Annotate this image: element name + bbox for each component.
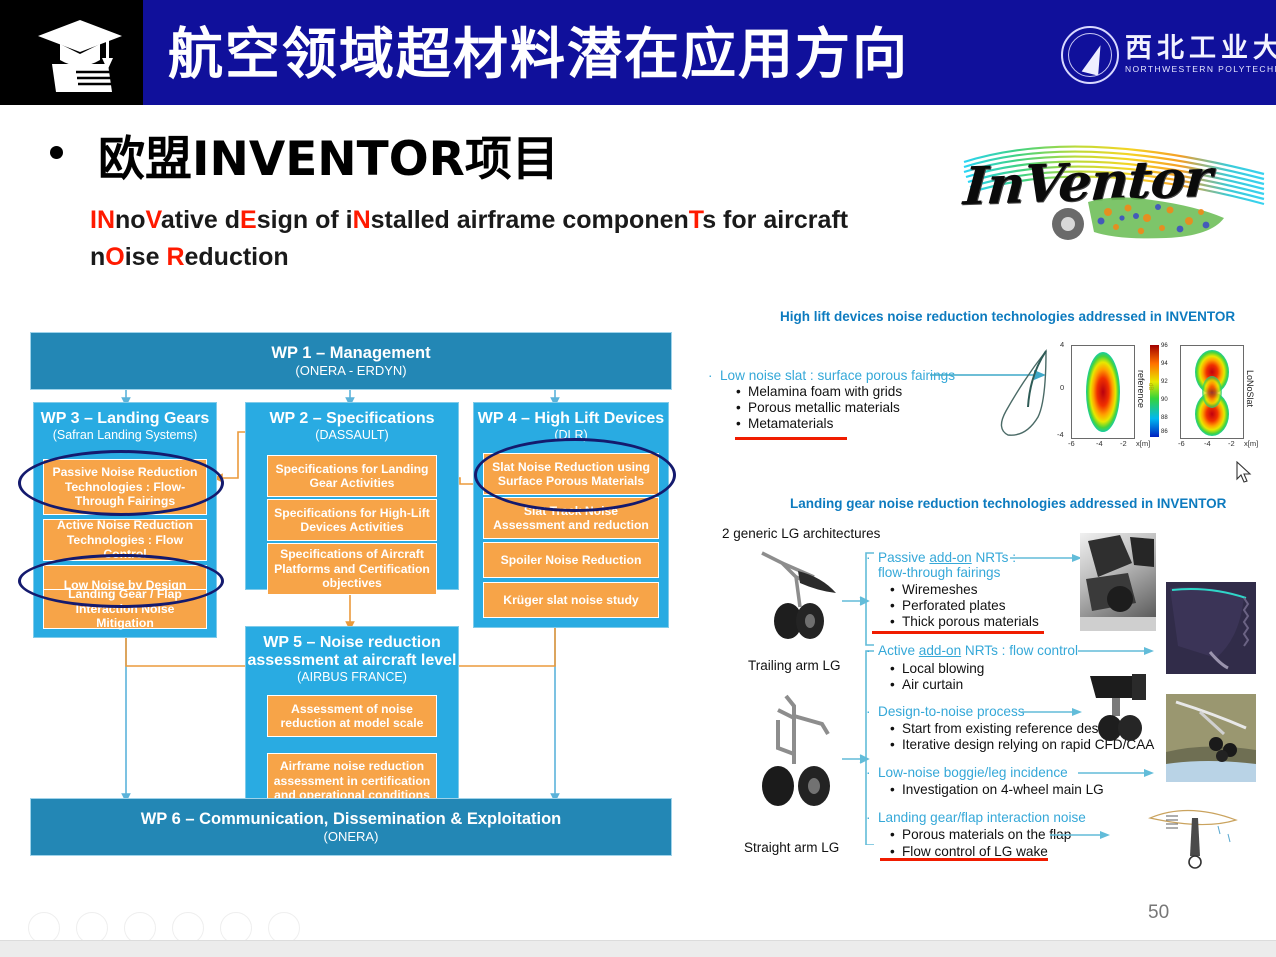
straight-arm-lg-caption: Straight arm LG — [744, 840, 839, 855]
lg-section-title: Landing gear noise reduction technologie… — [790, 496, 1226, 511]
wp4-header: WP 4 – High Lift Devices (DLR) — [474, 403, 668, 443]
acronym-letter-O: O — [105, 243, 124, 271]
lg-g1-sub-label-1: Wiremeshes — [902, 582, 978, 597]
wp2-title: WP 2 – Specifications — [246, 410, 458, 428]
wp5-column[interactable]: WP 5 – Noise reduction assessment at air… — [245, 626, 459, 826]
plot1-xtick-m2: -2 — [1120, 439, 1127, 448]
plot1-ytick-0: 0 — [1060, 383, 1064, 392]
nwpu-name-en: NORTHWESTERN POLYTECHNICAL UNIVERSITY — [1125, 64, 1276, 74]
nwpu-seal-icon — [1061, 26, 1119, 84]
bullet-glyph-icon: • — [736, 400, 748, 415]
lg-g3-head-a: Design-to-noise process — [878, 704, 1025, 719]
wp2-box-2[interactable]: Specifications for High-Lift Devices Act… — [267, 499, 437, 541]
wp2-column[interactable]: WP 2 – Specifications (DASSAULT) Specifi… — [245, 402, 459, 590]
hld-sub-3: •Metamaterials — [736, 415, 833, 433]
bullet-glyph-icon: • — [736, 384, 748, 399]
bullet-glyph-icon: • — [890, 614, 902, 629]
lg-group-2-heading: ·Active add-on NRTs : flow control — [866, 642, 1078, 660]
subtitle-frag-4: stalled airframe componen — [371, 206, 689, 234]
cb-tick-94: 94 — [1161, 361, 1168, 367]
lg-g2-sub-2: •Air curtain — [890, 676, 963, 694]
bullet-glyph-icon: • — [890, 677, 902, 692]
nwpu-name-cn: 西北工业大学 — [1125, 26, 1276, 65]
plot-colorbar — [1150, 345, 1159, 437]
photo-air-curtain-detail — [1166, 582, 1256, 674]
lg-g1-sub-3: •Thick porous materials — [890, 613, 1039, 631]
plot2-xtick-m6: -6 — [1178, 439, 1185, 448]
wp2-box-3[interactable]: Specifications of Aircraft Platforms and… — [267, 543, 437, 595]
plot-lonoslat — [1180, 345, 1244, 439]
lg-g2-head-b: NRTs : flow control — [961, 643, 1078, 658]
underline-flow-control-lg-wake — [880, 858, 1048, 861]
plot-lonoslat-label: LoNoSlat — [1245, 370, 1255, 407]
plot-reference — [1071, 345, 1135, 439]
bullet-glyph-icon: · — [866, 810, 878, 825]
wp5-title: WP 5 – Noise reduction assessment at air… — [246, 634, 458, 670]
cb-tick-96: 96 — [1161, 343, 1168, 349]
hld-sub-label-1: Melamina foam with grids — [748, 384, 902, 399]
hld-sub-label-3: Metamaterials — [748, 416, 833, 431]
lg-group-4-heading: ·Low-noise boggie/leg incidence — [866, 764, 1068, 782]
lg-g5-sub-label-2: Flow control of LG wake — [902, 844, 1048, 859]
plot-reference-contour — [1072, 346, 1134, 438]
photo-fairing-detail — [1080, 533, 1156, 631]
photo-low-noise-boggie — [1086, 672, 1152, 744]
cb-tick-88: 88 — [1161, 415, 1168, 421]
plot1-ytick-4: 4 — [1060, 340, 1064, 349]
wp5-header: WP 5 – Noise reduction assessment at air… — [246, 627, 458, 685]
trailing-arm-lg-caption: Trailing arm LG — [748, 658, 841, 673]
slide-header: 航空领域超材料潜在应用方向 西北工业大学 NORTHWESTERN POLYTE… — [0, 0, 1276, 105]
wp3-org: (Safran Landing Systems) — [34, 428, 216, 443]
mouse-cursor — [1236, 461, 1254, 485]
plot1-xtick-m4: -4 — [1096, 439, 1103, 448]
nwpu-logo: 西北工业大学 NORTHWESTERN POLYTECHNICAL UNIVER… — [1055, 22, 1260, 88]
lg-g4-sub-label-1: Investigation on 4-wheel main LG — [902, 782, 1104, 797]
lg-g2-arrow-icon — [1078, 644, 1158, 658]
wp4-org: (DLR) — [474, 428, 668, 443]
cb-tick-92: 92 — [1161, 379, 1168, 385]
plot2-xtick-m4: -4 — [1204, 439, 1211, 448]
bullet-glyph-icon: • — [890, 582, 902, 597]
lg-g1-head2: flow-through fairings — [878, 565, 1000, 580]
plot1-xlabel: x[m] — [1136, 439, 1150, 448]
wp4-box-2[interactable]: Slat Track Noise Assessment and reductio… — [483, 497, 659, 539]
lg-g5-sub-1: •Porous materials on the flap — [890, 826, 1071, 844]
inventor-logo-gear-blob-icon — [1046, 194, 1246, 242]
wp1-org: (ONERA - ERDYN) — [295, 363, 406, 379]
subtitle-frag-2: ative d — [161, 206, 240, 234]
wp4-box-3[interactable]: Spoiler Noise Reduction — [483, 542, 659, 578]
lg-g2-sub-label-2: Air curtain — [902, 677, 963, 692]
wp2-org: (DASSAULT) — [246, 428, 458, 443]
acronym-letter-N: N — [353, 206, 371, 234]
bullet-glyph-icon: · — [708, 368, 720, 383]
wp3-box-1[interactable]: Passive Noise Reduction Technologies : F… — [43, 459, 207, 515]
wp3-box-2[interactable]: Active Noise Reduction Technologies : Fl… — [43, 519, 207, 561]
wp1-band[interactable]: WP 1 – Management (ONERA - ERDYN) — [30, 332, 672, 390]
wp1-title: WP 1 – Management — [271, 344, 430, 363]
lg-g1-sub-label-2: Perforated plates — [902, 598, 1006, 613]
section-heading: 欧盟INVENTOR项目 — [98, 120, 559, 189]
inventor-logo: InVentor — [958, 128, 1270, 246]
wp6-band[interactable]: WP 6 – Communication, Dissemination & Ex… — [30, 798, 672, 856]
trailing-arm-lg-image — [752, 543, 838, 643]
lg-group-3-heading: ·Design-to-noise process — [866, 703, 1025, 721]
graduation-cap-icon — [36, 14, 124, 94]
wp5-box-1[interactable]: Assessment of noise reduction at model s… — [267, 695, 437, 737]
straight-arm-lg-image — [752, 690, 842, 810]
bullet-glyph-icon: · — [866, 550, 878, 565]
lg-g2-head-u: add-on — [919, 643, 961, 658]
acronym-letter-V: V — [146, 206, 161, 234]
wp6-org: (ONERA) — [324, 829, 379, 845]
subtitle-frag-7: ise — [125, 243, 167, 271]
wp3-column[interactable]: WP 3 – Landing Gears (Safran Landing Sys… — [33, 402, 217, 638]
project-full-name: INnoVative dEsign of iNstalled airframe … — [90, 202, 960, 275]
subtitle-frag-1: no — [115, 206, 146, 234]
lg-g4-arrow-icon — [1078, 766, 1158, 780]
lg-bracket-connectors — [840, 545, 880, 845]
cb-tick-86: 86 — [1161, 429, 1168, 435]
plot-lonoslat-contour — [1181, 346, 1243, 438]
bullet-glyph-icon: • — [890, 598, 902, 613]
lg-g3-sub-label-1: Start from existing reference design — [902, 721, 1117, 736]
hld-section-title: High lift devices noise reduction techno… — [780, 309, 1235, 324]
subtitle-frag-5: s for aircraft — [702, 206, 848, 234]
slat-airfoil-sketch-icon — [990, 345, 1060, 445]
photo-wake-sketch-detail — [1148, 800, 1240, 870]
lg-architectures-caption: 2 generic LG architectures — [722, 526, 880, 541]
bullet-glyph-icon: · — [866, 643, 878, 658]
wp-structure-diagram: WP 1 – Management (ONERA - ERDYN) WP 3 –… — [30, 326, 670, 860]
hld-sub-label-2: Porous metallic materials — [748, 400, 900, 415]
cb-tick-90: 90 — [1161, 397, 1168, 403]
bullet-glyph-icon: • — [890, 661, 902, 676]
bullet-dot — [50, 146, 63, 159]
lg-g5-head-a: Landing gear/flap interaction noise — [878, 810, 1086, 825]
bullet-glyph-icon: • — [736, 416, 748, 431]
lg-g5-sub-label-1: Porous materials on the flap — [902, 827, 1071, 842]
acronym-letter-E: E — [240, 206, 257, 234]
lg-g1-head-u: add-on — [929, 550, 971, 565]
wp3-header: WP 3 – Landing Gears (Safran Landing Sys… — [34, 403, 216, 443]
page-number: 50 — [1148, 902, 1169, 924]
subtitle-frag-8: eduction — [185, 243, 289, 271]
bullet-glyph-icon: · — [866, 704, 878, 719]
plot1-xtick-m6: -6 — [1068, 439, 1075, 448]
lg-g2-head-a: Active — [878, 643, 919, 658]
bullet-glyph-icon: · — [866, 765, 878, 780]
underline-metamaterials — [735, 437, 847, 440]
plot1-ytick-m4: -4 — [1057, 430, 1064, 439]
photo-air-curtain-cfd — [1166, 582, 1256, 674]
wp4-box-4[interactable]: Krüger slat noise study — [483, 582, 659, 618]
subtitle-frag-3: sign of i — [257, 206, 353, 234]
header-icon-block — [0, 0, 143, 105]
wp4-title: WP 4 – High Lift Devices — [474, 410, 668, 428]
photo-aircraft-detail — [1166, 694, 1256, 782]
wp2-box-1[interactable]: Specifications for Landing Gear Activiti… — [267, 455, 437, 497]
wp4-column[interactable]: WP 4 – High Lift Devices (DLR) Slat Nois… — [473, 402, 669, 628]
bullet-glyph-icon: • — [890, 737, 902, 752]
lg-g3-arrow-icon — [1022, 705, 1086, 719]
lg-group-5-heading: ·Landing gear/flap interaction noise — [866, 809, 1086, 827]
photo-boggie-detail — [1086, 672, 1152, 744]
lg-g1-sub-label-3: Thick porous materials — [902, 614, 1039, 629]
photo-lg-flap-wake-sketch — [1148, 800, 1240, 870]
plot2-xtick-m2: -2 — [1228, 439, 1235, 448]
wp3-box-4[interactable]: Landing Gear / Flap Interaction Noise Mi… — [43, 589, 207, 629]
wp2-header: WP 2 – Specifications (DASSAULT) — [246, 403, 458, 443]
wp5-org: (AIRBUS FRANCE) — [246, 670, 458, 685]
wp3-title: WP 3 – Landing Gears — [34, 410, 216, 428]
plot2-xlabel: x[m] — [1244, 439, 1258, 448]
page-title: 航空领域超材料潜在应用方向 — [168, 12, 1028, 96]
taskbar — [0, 940, 1276, 957]
plot-colorbar-ticks: 96 94 92 90 88 86 — [1161, 345, 1177, 437]
bullet-glyph-icon: • — [890, 844, 902, 859]
acronym-letter-R: R — [166, 243, 184, 271]
plot-reference-label: reference — [1136, 370, 1146, 408]
wp4-box-1[interactable]: Slat Noise Reduction using Surface Porou… — [483, 453, 659, 495]
acronym-letter-IN: IN — [90, 206, 115, 234]
plot-colorbar-unit: dB — [1147, 383, 1153, 390]
lg-g4-head-a: Low-noise boggie/leg incidence — [878, 765, 1068, 780]
lg-g2-sub-label-1: Local blowing — [902, 661, 984, 676]
photo-flow-through-fairing — [1080, 533, 1156, 631]
bullet-glyph-icon: • — [890, 827, 902, 842]
photo-aircraft-in-flight — [1166, 694, 1256, 782]
slide: 航空领域超材料潜在应用方向 西北工业大学 NORTHWESTERN POLYTE… — [0, 0, 1276, 956]
bullet-glyph-icon: • — [890, 782, 902, 797]
hld-bullet-label: Low noise slat : surface porous fairings — [720, 368, 955, 383]
lg-g1-arrow-icon — [1010, 551, 1086, 565]
lg-g4-sub-1: •Investigation on 4-wheel main LG — [890, 781, 1104, 799]
bullet-glyph-icon: • — [890, 721, 902, 736]
lg-g1-head-a: Passive — [878, 550, 929, 565]
underline-thick-porous-materials — [872, 631, 1044, 634]
acronym-letter-T: T — [689, 206, 702, 234]
wp6-title: WP 6 – Communication, Dissemination & Ex… — [141, 810, 562, 829]
lg-g5-arrow-icon — [1050, 828, 1114, 842]
subtitle-frag-6: n — [90, 243, 105, 271]
